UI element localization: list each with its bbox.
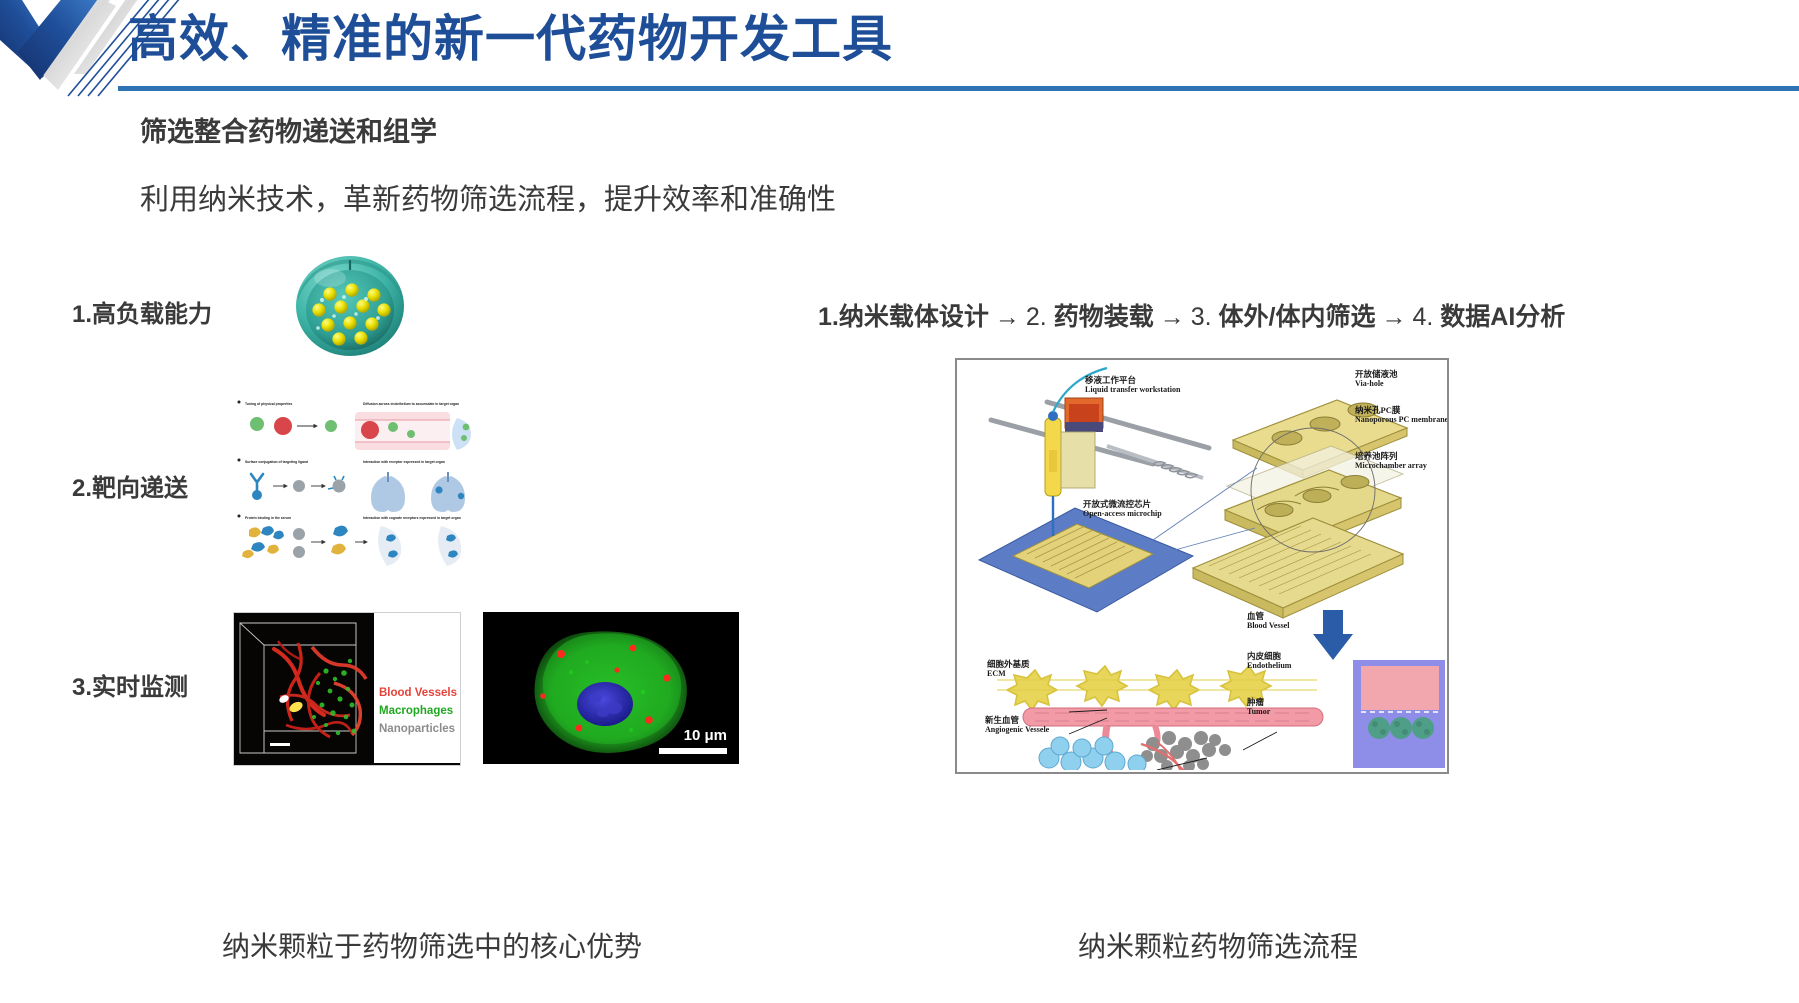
targeted-delivery-schematic: Tuning of physical properties Diffusion … <box>235 396 493 574</box>
header-divider <box>118 86 1799 91</box>
chip-label-tumor: 肿瘤 Tumor <box>1247 698 1270 716</box>
legend-macrophages: Macrophages <box>379 705 453 717</box>
svg-text:Interaction with receptor expr: Interaction with receptor expressed in t… <box>363 460 445 464</box>
section-heading: 筛选整合药物递送和组学 <box>140 110 437 149</box>
chip-label-endothelium: 内皮细胞 Endothelium <box>1247 652 1291 670</box>
svg-text:Protein binding in the serum: Protein binding in the serum <box>245 516 291 520</box>
chip-label-via-hole: 开放储液池 Via-hole <box>1355 370 1398 388</box>
workflow-arrow-2: → <box>1154 303 1191 331</box>
workflow-step-3: 3. 体外/体内筛选 <box>1191 303 1376 331</box>
nanoparticle-carrier-illustration <box>288 248 418 360</box>
legend-blood-vessels: Blood Vessels <box>379 687 457 699</box>
chip-label-liquid-transfer-workstation: 移液工作平台 Liquid transfer workstation <box>1085 376 1180 394</box>
intravital-3d-microscopy-panel: Blood Vessels Macrophages Nanoparticles <box>233 612 461 766</box>
workflow-arrow-3: → <box>1375 303 1412 331</box>
microfluidic-screening-chip-diagram: 移液工作平台 Liquid transfer workstation 开放储液池… <box>955 358 1449 774</box>
svg-text:Surface conjugation of targeti: Surface conjugation of targeting ligand <box>245 460 308 464</box>
svg-text:Tuning of physical properties: Tuning of physical properties <box>245 402 292 406</box>
chip-label-ecm: 细胞外基质 ECM <box>987 660 1030 678</box>
left-figure-caption: 纳米颗粒于药物筛选中的核心优势 <box>222 925 642 965</box>
confocal-cell-uptake-panel: 10 μm <box>483 612 739 764</box>
feature-item-2: 2.靶向递送 <box>72 468 188 503</box>
chip-label-microchamber-array: 培养池阵列 Microchamber array <box>1355 452 1427 470</box>
svg-text:Diffusion across endothelium t: Diffusion across endothelium to accumula… <box>363 402 459 406</box>
feature-item-1: 1.高负载能力 <box>72 294 212 329</box>
page-title: 高效、精准的新一代药物开发工具 <box>128 4 893 74</box>
workflow-step-2: 2. 药物装载 <box>1026 303 1154 331</box>
chip-label-open-access-microchip: 开放式微流控芯片 Open-access microchip <box>1083 500 1162 518</box>
right-figure-caption: 纳米颗粒药物筛选流程 <box>1078 925 1358 965</box>
svg-text:Interaction with cognate recep: Interaction with cognate receptors expre… <box>363 516 461 520</box>
scale-bar <box>659 748 727 754</box>
page-header: 高效、精准的新一代药物开发工具 <box>0 0 1799 100</box>
workflow-steps-line: 1.纳米载体设计→2. 药物装载→3. 体外/体内筛选→4. 数据AI分析 <box>818 297 1565 333</box>
workflow-step-4: 4. 数据AI分析 <box>1412 303 1565 331</box>
chip-label-nanoporous-pc-membrane: 纳米孔PC膜 Nanoporous PC membrane <box>1355 406 1448 424</box>
chip-label-angiogenic-vessel: 新生血管 Angiogenic Vessele <box>985 716 1049 734</box>
chip-label-blood-vessel: 血管 Blood Vessel <box>1247 612 1289 630</box>
microscopy-legend: Blood Vessels Macrophages Nanoparticles <box>374 613 460 763</box>
workflow-arrow-1: → <box>989 303 1026 331</box>
section-subheading: 利用纳米技术，革新药物筛选流程，提升效率和准确性 <box>140 176 836 218</box>
workflow-step-1: 1.纳米载体设计 <box>818 303 989 331</box>
feature-item-3: 3.实时监测 <box>72 667 188 702</box>
scale-bar-label: 10 μm <box>684 727 727 744</box>
legend-nanoparticles: Nanoparticles <box>379 723 455 735</box>
